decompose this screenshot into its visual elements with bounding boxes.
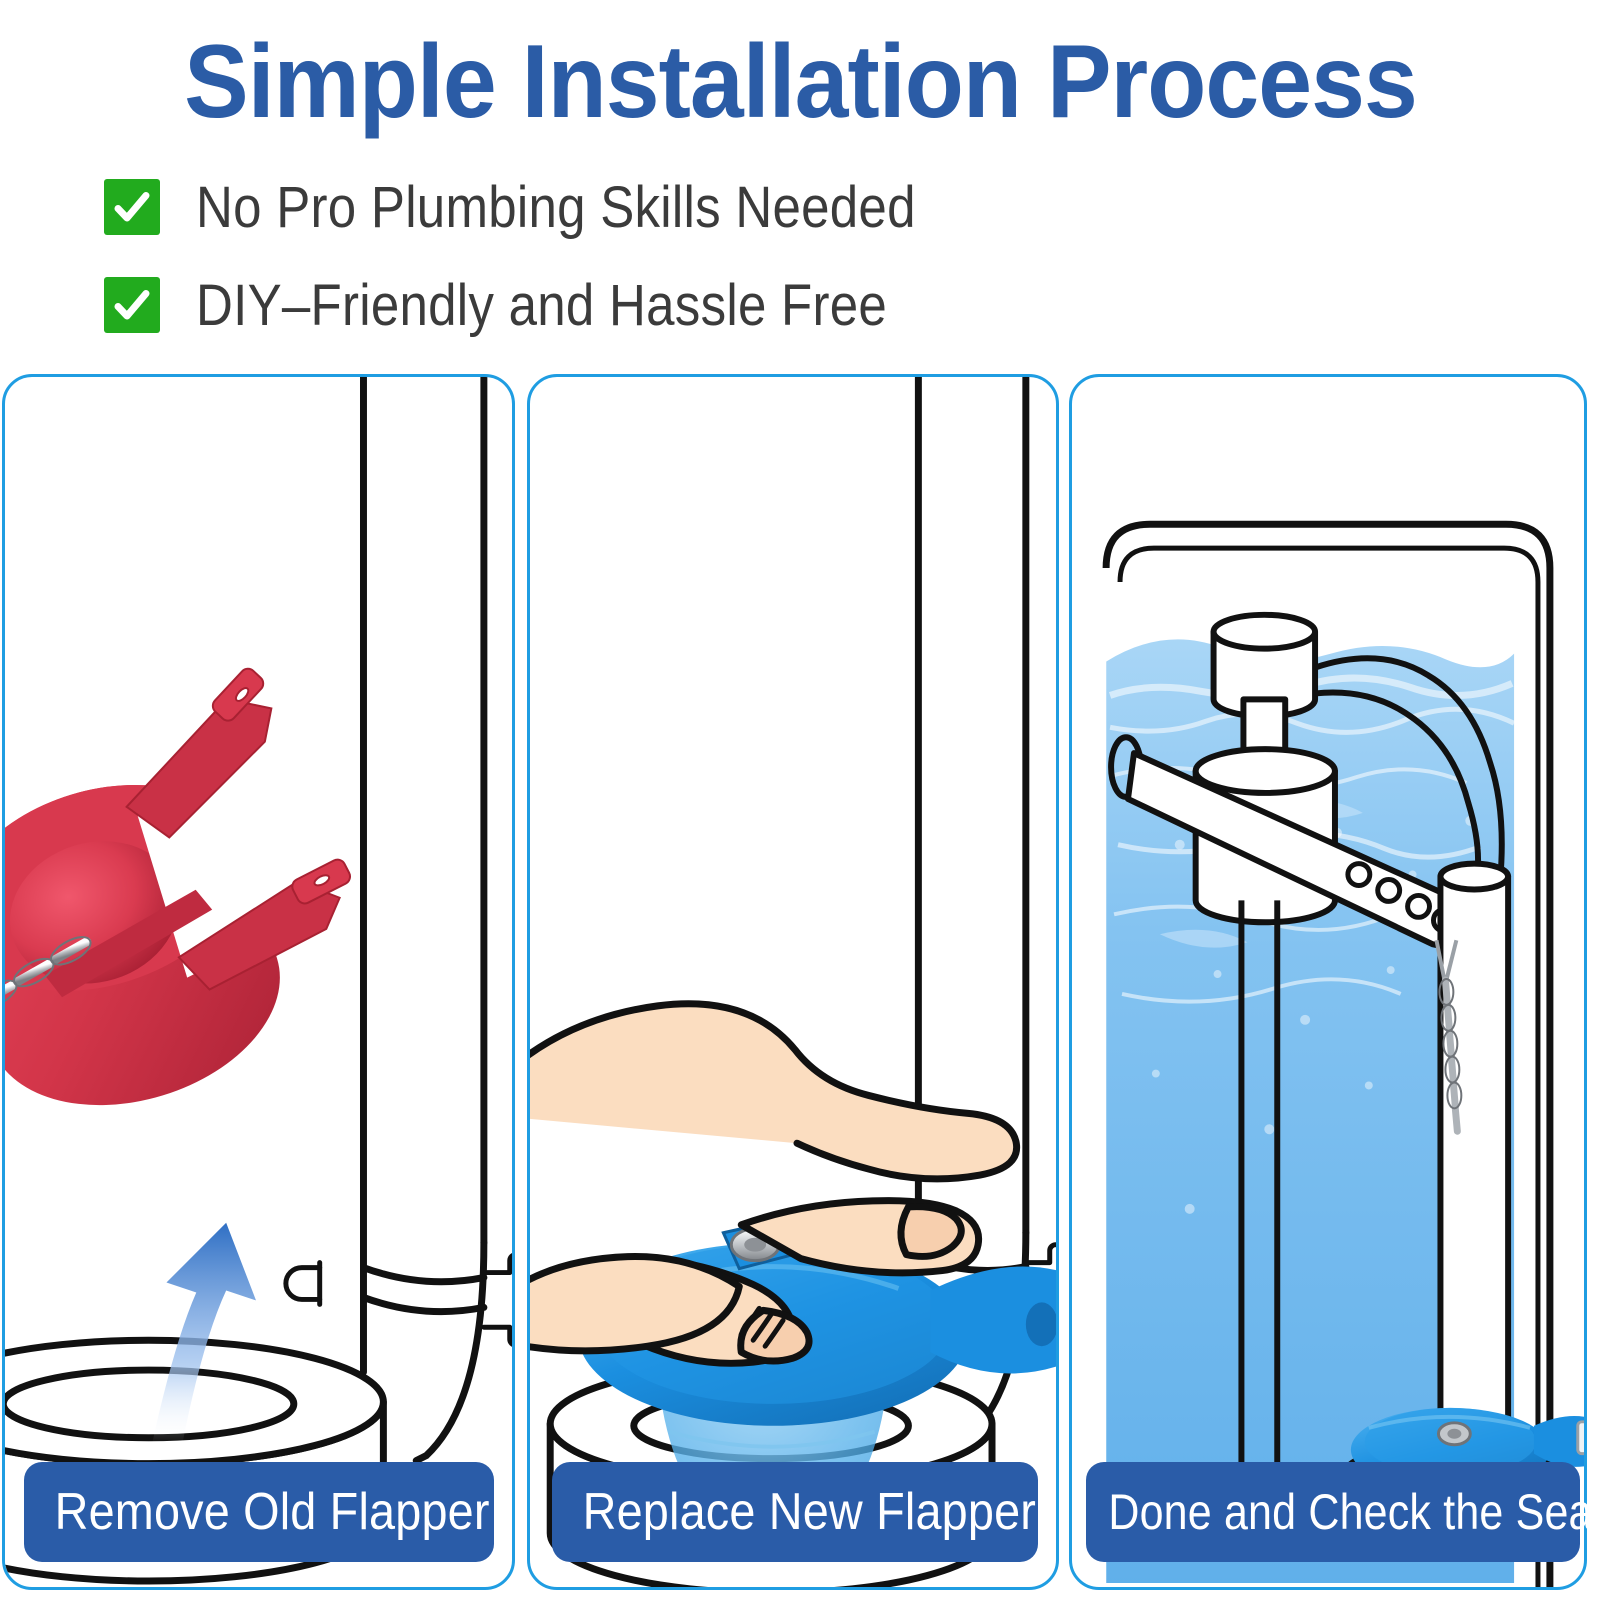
caption-label: Done and Check the Seal xyxy=(1086,1483,1601,1541)
panel-caption-replace-new-flapper: Replace New Flapper xyxy=(552,1462,1038,1562)
step-panel-done-check-seal xyxy=(1069,374,1587,1590)
step-panel-remove-old-flapper xyxy=(2,374,515,1590)
infographic-page: Simple Installation Process No Pro Plumb… xyxy=(0,0,1601,1601)
caption-label: Remove Old Flapper xyxy=(24,1482,490,1542)
feature-bullet-list: No Pro Plumbing Skills Needed DIY–Friend… xyxy=(104,168,1404,364)
illustration-replace-new-flapper xyxy=(530,377,1056,1587)
illustration-remove-old-flapper xyxy=(5,377,512,1587)
panel-caption-remove-old-flapper: Remove Old Flapper xyxy=(24,1462,494,1562)
step-panel-replace-new-flapper xyxy=(527,374,1059,1590)
panel-caption-done-check-seal: Done and Check the Seal xyxy=(1086,1462,1580,1562)
caption-label: Replace New Flapper xyxy=(552,1482,1036,1542)
illustration-done-check-seal xyxy=(1072,377,1584,1587)
check-icon xyxy=(104,277,160,333)
list-item: No Pro Plumbing Skills Needed xyxy=(104,168,1404,246)
list-item-label: DIY–Friendly and Hassle Free xyxy=(196,272,887,339)
check-icon xyxy=(104,179,160,235)
page-title: Simple Installation Process xyxy=(56,26,1545,138)
list-item: DIY–Friendly and Hassle Free xyxy=(104,266,1404,344)
list-item-label: No Pro Plumbing Skills Needed xyxy=(196,174,916,241)
